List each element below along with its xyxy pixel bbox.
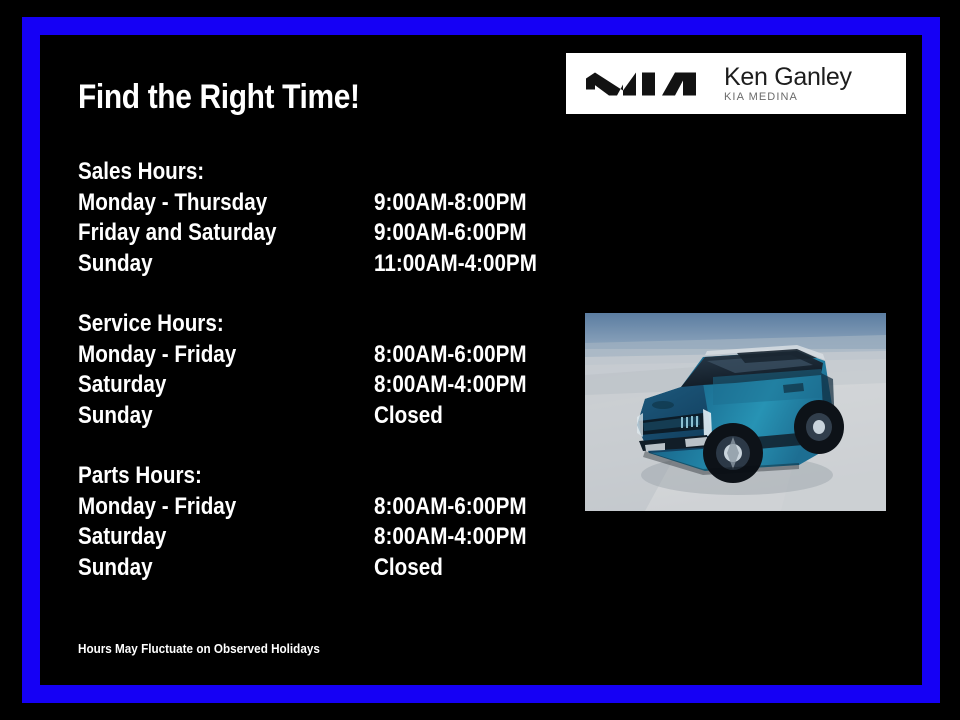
dealer-name: Ken Ganley <box>724 64 852 90</box>
page-title: Find the Right Time! <box>78 78 360 117</box>
holiday-disclaimer: Hours May Fluctuate on Observed Holidays <box>78 641 320 656</box>
dealer-subtitle: KIA MEDINA <box>724 90 852 104</box>
kia-logo-icon <box>580 67 702 101</box>
slide-canvas: Find the Right Time! Ken Ganley KIA MEDI… <box>0 0 960 720</box>
hours-row-label: Saturday <box>78 370 333 401</box>
hours-list: Sales Hours: Monday - Thursday 9:00AM-8:… <box>78 157 548 583</box>
hours-block-parts: Parts Hours: Monday - Friday 8:00AM-6:00… <box>78 461 548 583</box>
hours-row: Friday and Saturday 9:00AM-6:00PM <box>78 218 548 249</box>
hours-block-service: Service Hours: Monday - Friday 8:00AM-6:… <box>78 309 548 431</box>
hours-row-time: 11:00AM-4:00PM <box>374 249 537 280</box>
hours-row-label: Monday - Friday <box>78 492 333 523</box>
hours-block-heading: Service Hours: <box>78 309 482 340</box>
hours-row-label: Monday - Thursday <box>78 188 333 219</box>
hours-row-time: 8:00AM-6:00PM <box>374 492 527 523</box>
hours-row-time: 8:00AM-4:00PM <box>374 522 527 553</box>
hours-row: Sunday Closed <box>78 401 548 432</box>
hours-row-time: Closed <box>374 401 443 432</box>
hours-row: Monday - Thursday 9:00AM-8:00PM <box>78 188 548 219</box>
hours-row-label: Sunday <box>78 401 333 432</box>
hours-row-label: Sunday <box>78 249 333 280</box>
vehicle-photo <box>585 313 886 511</box>
hours-block-heading: Parts Hours: <box>78 461 482 492</box>
hours-row-time: 9:00AM-8:00PM <box>374 188 527 219</box>
dealer-logo: Ken Ganley KIA MEDINA <box>566 53 906 114</box>
hours-row-label: Monday - Friday <box>78 340 333 371</box>
dealer-logo-text: Ken Ganley KIA MEDINA <box>724 64 852 104</box>
hours-row: Saturday 8:00AM-4:00PM <box>78 522 548 553</box>
hours-row-time: 9:00AM-6:00PM <box>374 218 527 249</box>
hours-row: Saturday 8:00AM-4:00PM <box>78 370 548 401</box>
hours-row: Sunday 11:00AM-4:00PM <box>78 249 548 280</box>
hours-row-time: 8:00AM-6:00PM <box>374 340 527 371</box>
hours-block-sales: Sales Hours: Monday - Thursday 9:00AM-8:… <box>78 157 548 279</box>
hours-row-time: Closed <box>374 553 443 584</box>
hours-row-label: Saturday <box>78 522 333 553</box>
hours-row: Sunday Closed <box>78 553 548 584</box>
hours-row: Monday - Friday 8:00AM-6:00PM <box>78 492 548 523</box>
hours-row: Monday - Friday 8:00AM-6:00PM <box>78 340 548 371</box>
hours-row-time: 8:00AM-4:00PM <box>374 370 527 401</box>
hours-row-label: Friday and Saturday <box>78 218 333 249</box>
hours-row-label: Sunday <box>78 553 333 584</box>
hours-block-heading: Sales Hours: <box>78 157 482 188</box>
